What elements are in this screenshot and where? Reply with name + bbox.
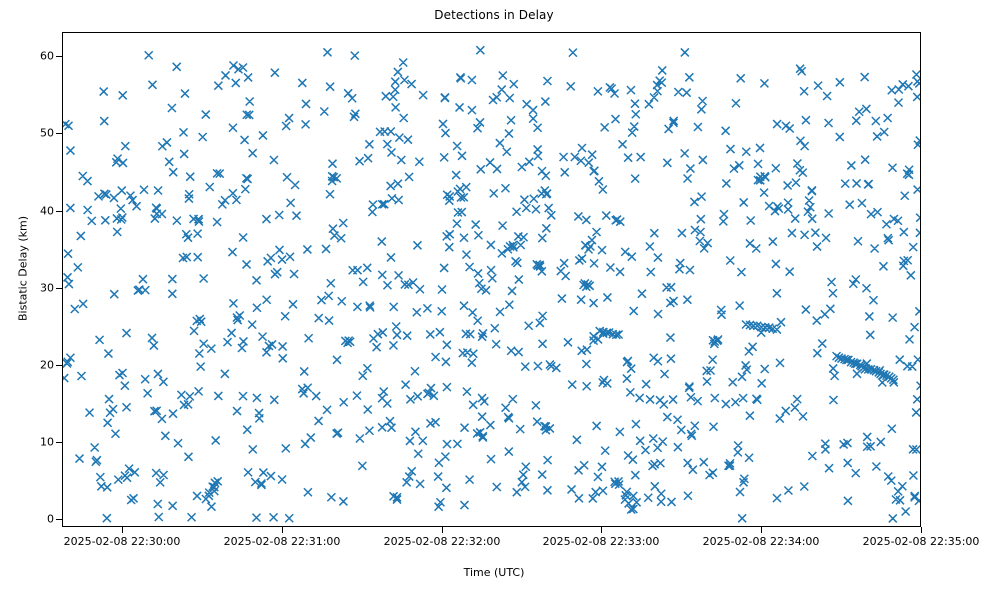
y-tick-label: 40 [8,206,54,217]
y-tick-label: 60 [8,51,54,62]
y-tick-label: 20 [8,360,54,371]
y-tick-label: 10 [8,437,54,448]
scatter-series [63,33,921,527]
plot-area [62,32,921,527]
y-axis-title: Bistatic Delay (km) [17,129,30,409]
x-tick-mark [442,527,443,533]
x-tick-mark [921,527,922,533]
x-tick-label-date: 2025-02-08 22:35:00 [821,536,988,549]
y-tick-label: 50 [8,128,54,139]
matplotlib-figure: Detections in Delay 0102030405060 2025-0… [0,0,988,590]
page-title: Detections in Delay [0,8,988,22]
scatter-markers [63,46,921,522]
x-tick-label: 2025-02-08 22:35:00 [821,536,988,549]
y-tick-label: 0 [8,514,54,525]
x-tick-mark [761,527,762,533]
x-axis-title: Time (UTC) [0,566,988,579]
x-tick-mark [601,527,602,533]
y-tick-label: 30 [8,283,54,294]
x-tick-mark [282,527,283,533]
x-tick-mark [122,527,123,533]
